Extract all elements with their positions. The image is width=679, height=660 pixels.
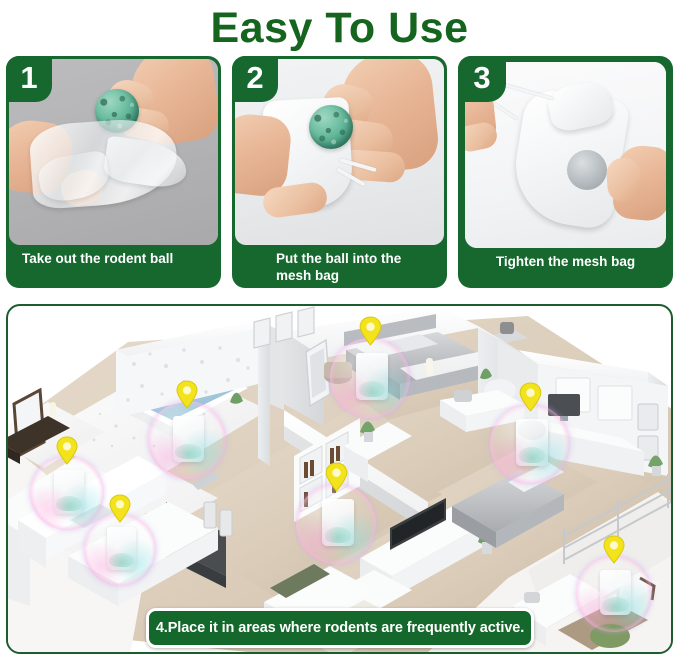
rodent-ball-icon [309, 105, 353, 149]
marker-balcony[interactable] [576, 556, 652, 632]
bubble-sphere [148, 401, 226, 479]
bubble-sphere [84, 514, 156, 586]
mesh-bag-icon [516, 419, 548, 466]
step-card-2[interactable]: 2 Put the ball into the mesh bag [232, 56, 447, 288]
step-number-badge-1: 1 [6, 56, 52, 102]
step-caption-3: Tighten the mesh bag [458, 248, 673, 288]
location-pin-icon [518, 382, 543, 413]
marker-guest-bath[interactable] [148, 401, 226, 479]
marker-kitchen[interactable] [84, 514, 156, 586]
mesh-ball-shadow [567, 150, 607, 190]
step-card-3[interactable]: 3 Tighten the mesh bag [458, 56, 673, 288]
location-pin-icon [358, 316, 383, 347]
bubble-sphere [296, 484, 376, 564]
location-pin-icon [55, 436, 79, 466]
page-title: Easy To Use [0, 0, 679, 56]
step-number-badge-3: 3 [458, 56, 506, 102]
step-number-badge-2: 2 [232, 56, 278, 102]
bubble-sphere [330, 338, 410, 418]
mesh-bag-icon [600, 570, 631, 615]
bubble-sphere [490, 404, 570, 484]
mesh-bag-icon [54, 470, 84, 514]
step-card-1[interactable]: 1 Take out the rodent ball [6, 56, 221, 288]
location-pin-icon [602, 535, 626, 565]
floorplan-scene [8, 306, 671, 652]
marker-study[interactable] [490, 404, 570, 484]
mesh-bag-icon [173, 416, 204, 462]
floorplan-panel[interactable] [6, 304, 673, 654]
bubble-sphere [576, 556, 652, 632]
floorplan-caption: 4.Place it in areas where rodents are fr… [146, 608, 534, 648]
mesh-bag-icon [356, 353, 388, 400]
location-pin-icon [108, 494, 132, 524]
location-pin-icon [175, 380, 199, 410]
step-caption-2: Put the ball into the mesh bag [232, 245, 447, 288]
marker-bedroom[interactable] [330, 338, 410, 418]
steps-row: 1 Take out the rodent ball 2 [0, 56, 679, 288]
mesh-bag-icon [322, 499, 354, 546]
step-caption-1: Take out the rodent ball [6, 245, 221, 288]
location-pin-icon [324, 462, 349, 493]
marker-living-room[interactable] [296, 484, 376, 564]
mesh-bag-icon [107, 527, 136, 570]
